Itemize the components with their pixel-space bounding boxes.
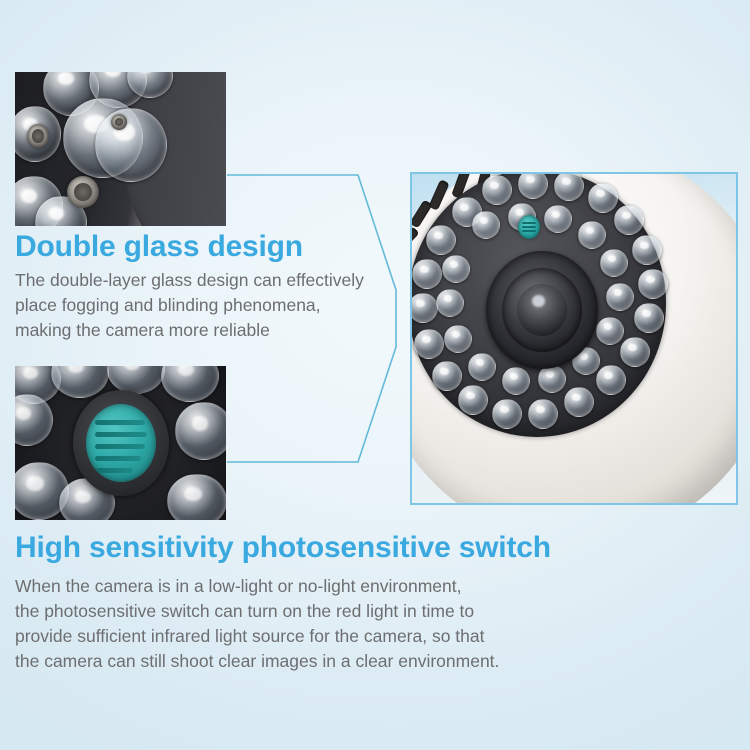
board-screw [111, 114, 127, 130]
ir-led [444, 325, 472, 353]
led-lens [175, 402, 226, 460]
ir-led [458, 385, 488, 415]
photosensitive-sensor-macro-photo [15, 366, 226, 520]
ir-led [432, 361, 462, 391]
board-screw [27, 124, 49, 148]
ir-led [472, 211, 500, 239]
ir-led [588, 183, 618, 213]
ir-led [578, 221, 606, 249]
ir-led [600, 249, 628, 277]
ir-led [606, 283, 634, 311]
ir-led-board [410, 172, 666, 437]
ir-led [442, 255, 470, 283]
photosensitive-sensor [86, 404, 156, 482]
ir-led [638, 269, 668, 299]
camera-housing [410, 172, 738, 505]
ir-led [564, 387, 594, 417]
ir-led [614, 205, 644, 235]
feature-body-photosensitive-switch: When the camera is in a low-light or no-… [15, 574, 575, 674]
ir-led [596, 317, 624, 345]
ir-led [528, 399, 558, 429]
ir-led [518, 172, 548, 199]
ir-led [482, 175, 512, 205]
ir-led [502, 367, 530, 395]
sensor-bezel [73, 390, 169, 496]
ir-led [468, 353, 496, 381]
ir-led [634, 303, 664, 333]
ir-led [436, 289, 464, 317]
ir-led [414, 329, 444, 359]
ir-led [620, 337, 650, 367]
feature-body-double-glass: The double-layer glass design can effect… [15, 268, 415, 343]
feature-heading-photosensitive-switch: High sensitivity photosensitive switch [15, 531, 551, 565]
photosensitive-switch-sensor [518, 215, 540, 239]
ir-led [426, 225, 456, 255]
ir-led [412, 259, 442, 289]
ir-led [538, 365, 566, 393]
ir-led [554, 172, 584, 201]
led-lens [95, 108, 167, 182]
infographic-page: Double glass design The double-layer gla… [0, 0, 750, 750]
camera-lens-assembly [486, 251, 598, 369]
double-glass-macro-photo [15, 72, 226, 226]
lens-glass [517, 284, 567, 336]
lens-barrel [502, 268, 582, 352]
lens-reflection [532, 295, 545, 306]
ir-led [544, 205, 572, 233]
dome-camera-photo [410, 172, 738, 505]
ir-led [596, 365, 626, 395]
ir-led [632, 235, 662, 265]
feature-heading-double-glass: Double glass design [15, 230, 303, 264]
ir-led [492, 399, 522, 429]
board-screw [67, 176, 99, 208]
led-lens [167, 474, 226, 520]
